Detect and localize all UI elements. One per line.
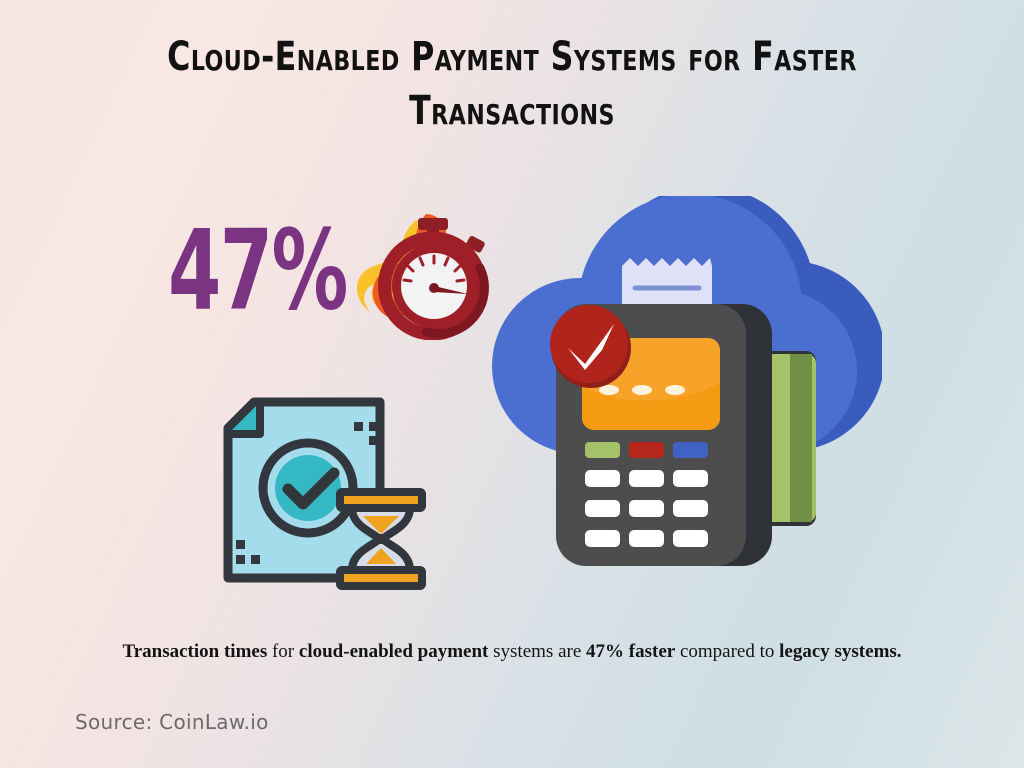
caption-segment: Transaction times bbox=[122, 641, 267, 662]
source-attribution: Source: CoinLaw.io bbox=[75, 710, 269, 734]
caption-segment: compared to bbox=[675, 641, 779, 662]
verified-document-hourglass-icon bbox=[206, 388, 444, 594]
cloud-payment-terminal-icon bbox=[490, 196, 882, 578]
infographic-canvas: Cloud-Enabled Payment Systems for Faster… bbox=[0, 0, 1024, 768]
caption-segment: cloud-enabled payment bbox=[299, 641, 489, 662]
caption-text: Transaction times for cloud-enabled paym… bbox=[100, 636, 924, 668]
caption-segment: 47% faster bbox=[586, 641, 675, 662]
page-title: Cloud-Enabled Payment Systems for Faster… bbox=[146, 30, 878, 138]
flaming-stopwatch-icon bbox=[330, 208, 500, 340]
caption-segment: legacy systems. bbox=[779, 641, 901, 662]
stat-value: 47% bbox=[168, 212, 332, 329]
caption-segment: systems are bbox=[488, 641, 586, 662]
caption-segment: for bbox=[267, 641, 299, 662]
